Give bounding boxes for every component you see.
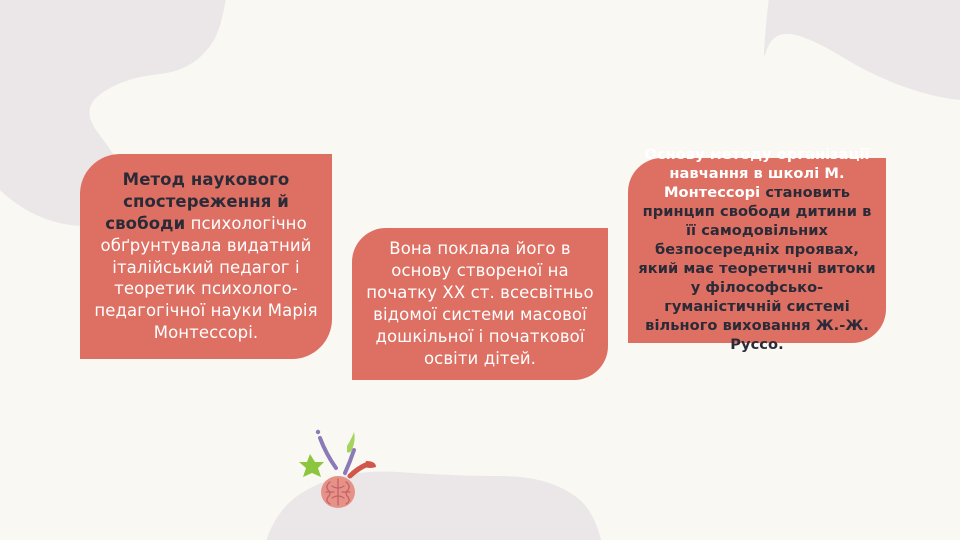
text-card-method: Метод наукового спостереження й свободи …	[80, 154, 332, 359]
text-card-basis-regular: Вона поклала його в основу створеної на …	[366, 239, 593, 368]
text-card-principle-dark: становить принцип свободи дитини в її са…	[638, 184, 875, 353]
green-star-icon	[299, 454, 324, 477]
text-card-basis-body: Вона поклала його в основу створеної на …	[364, 238, 596, 370]
coral-curve-tail-icon	[365, 461, 376, 468]
text-card-basis: Вона поклала його в основу створеної на …	[352, 228, 608, 380]
slide-canvas: Метод наукового спостереження й свободи …	[0, 0, 960, 540]
text-card-principle: Основу методу організації навчання в шко…	[628, 158, 886, 343]
blob-top-right-shape	[764, 0, 960, 101]
brain-with-confetti-icon	[296, 428, 380, 512]
text-card-method-body: Метод наукового спостереження й свободи …	[94, 169, 318, 345]
purple-dot-icon	[316, 430, 320, 434]
purple-swoosh-2-icon	[345, 450, 354, 473]
text-card-principle-body: Основу методу організації навчання в шко…	[636, 146, 878, 355]
